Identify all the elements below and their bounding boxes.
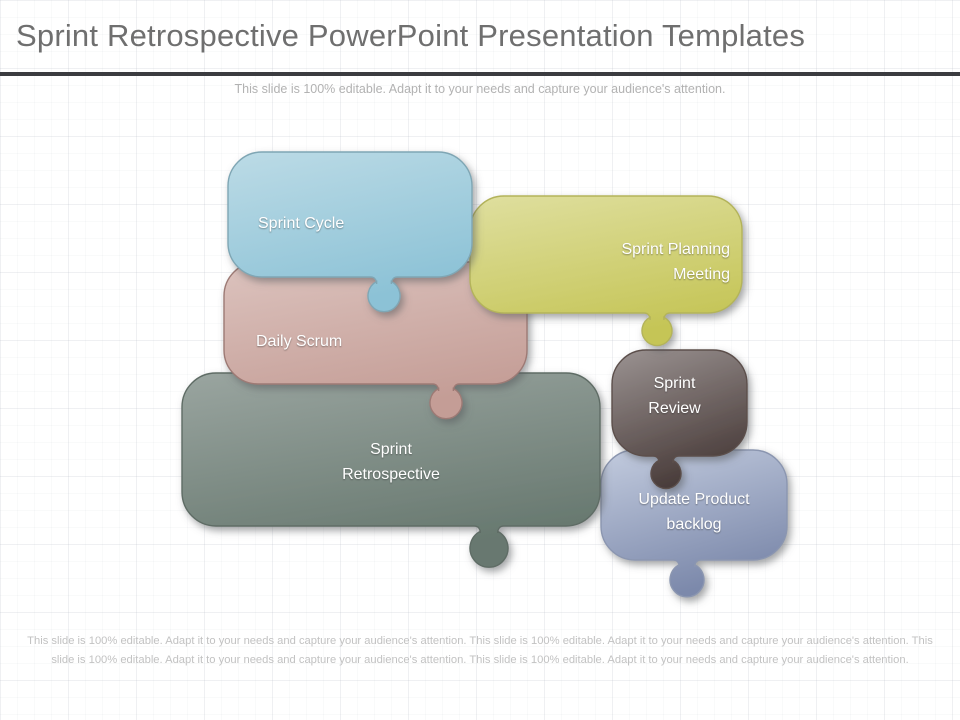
bubble-shape-sprint-cycle — [228, 152, 472, 312]
bubble-shape-sprint-planning-meeting — [470, 196, 742, 346]
slide-canvas: Sprint Retrospective PowerPoint Presenta… — [0, 0, 960, 720]
slide-footer-note: This slide is 100% editable. Adapt it to… — [18, 632, 942, 671]
sprint-cycle-diagram: Sprint CycleSprint Planning MeetingDaily… — [0, 0, 960, 720]
bubble-sprint-cycle[interactable] — [198, 122, 502, 339]
